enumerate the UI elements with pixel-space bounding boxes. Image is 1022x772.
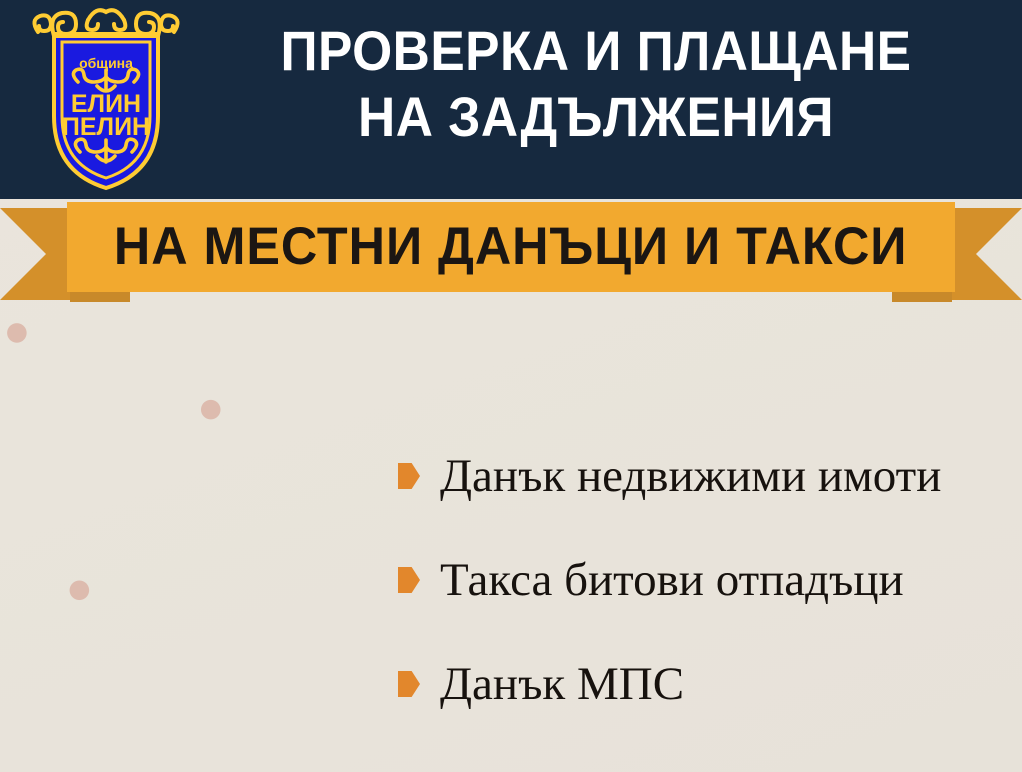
page-title-line-2: НА ЗАДЪЛЖЕНИЯ [222,84,969,150]
municipality-logo: община ЕЛИН ПЕЛИН [26,4,186,194]
list-item-label: Данък недвижими имоти [440,450,941,502]
bullet-arrow-icon [398,463,420,489]
coat-of-arms-icon: община ЕЛИН ПЕЛИН [26,4,186,194]
page-title: ПРОВЕРКА И ПЛАЩАНЕ НА ЗАДЪЛЖЕНИЯ [190,18,1002,150]
car-front-icon [131,576,276,707]
ribbon-label: НА МЕСТНИ ДАНЪЦИ И ТАКСИ [114,219,908,275]
list-item-label: Такса битови отпадъци [440,554,904,606]
page-title-line-1: ПРОВЕРКА И ПЛАЩАНЕ [222,18,969,84]
ribbon-band: НА МЕСТНИ ДАНЪЦИ И ТАКСИ [67,202,955,292]
logo-text-obshtina: община [79,55,133,71]
list-item: Данък недвижими имоти [398,424,1018,528]
stamp-paper [25,324,204,503]
header-banner: община ЕЛИН ПЕЛИН ПРОВЕРКА И ПЛАЩАНЕ НА … [0,0,1022,199]
house-icon [53,358,174,468]
bullet-arrow-icon [398,567,420,593]
stamp-card-property [5,304,223,522]
logo-text-pelin: ПЕЛИН [62,113,150,141]
list-item-label: Данък МПС [440,658,684,710]
subtitle-ribbon: НА МЕСТНИ ДАНЪЦИ И ТАКСИ [0,196,1022,306]
list-item: Такса битови отпадъци [398,528,1018,632]
list-item: Данък МПС [398,632,1018,736]
bullet-arrow-icon [398,671,420,697]
poster-canvas: община ЕЛИН ПЕЛИН ПРОВЕРКА И ПЛАЩАНЕ НА … [0,0,1022,772]
tax-type-list: Данък недвижими имоти Такса битови отпад… [398,424,1018,736]
